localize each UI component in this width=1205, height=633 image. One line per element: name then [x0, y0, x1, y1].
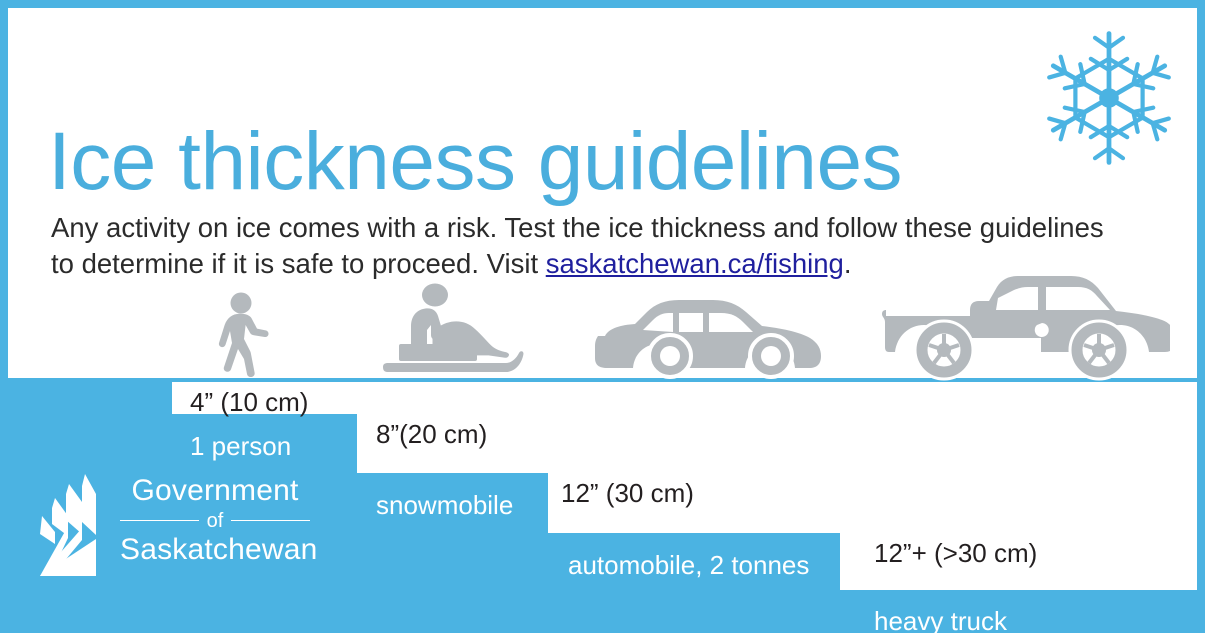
intro-text-part2: . — [844, 248, 852, 279]
walking-person-icon — [213, 292, 275, 382]
ice-thickness-infographic: Ice thickness guidelines Any activity on… — [0, 0, 1205, 633]
header-panel: Ice thickness guidelines Any activity on… — [8, 8, 1197, 378]
gov-logo-rule-right — [231, 520, 310, 522]
snowmobile-icon — [363, 282, 539, 382]
government-of-saskatchewan-logo: Government of Saskatchewan — [38, 472, 310, 594]
gov-logo-rule-left — [120, 520, 199, 522]
step-subject-2: snowmobile — [376, 490, 513, 521]
page-title: Ice thickness guidelines — [48, 121, 902, 203]
heavy-truck-icon — [880, 274, 1170, 382]
intro-paragraph: Any activity on ice comes with a risk. T… — [51, 210, 1116, 283]
saskatchewan-wheat-sheaf-icon — [38, 472, 104, 588]
gov-logo-wordmark: Government of Saskatchewan — [120, 474, 310, 566]
vehicle-icon-row — [8, 276, 1197, 384]
gov-logo-line-of: of — [207, 511, 224, 531]
automobile-icon — [581, 290, 821, 382]
step-thickness-3: 12” (30 cm) — [561, 478, 694, 509]
gov-logo-line-saskatchewan: Saskatchewan — [120, 533, 310, 567]
saskatchewan-fishing-link[interactable]: saskatchewan.ca/fishing — [546, 248, 844, 279]
step-subject-1: 1 person — [190, 431, 291, 462]
step-subject-4: heavy truck — [874, 606, 1007, 633]
gov-logo-of-row: of — [120, 511, 310, 531]
step-thickness-1: 4” (10 cm) — [190, 387, 308, 418]
step-subject-3: automobile, 2 tonnes — [568, 550, 809, 581]
step-white-1 — [172, 382, 1197, 414]
step-thickness-2: 8”(20 cm) — [376, 419, 487, 450]
snowflake-icon — [1039, 28, 1179, 168]
step-thickness-4: 12”+ (>30 cm) — [874, 538, 1037, 569]
gov-logo-line-government: Government — [120, 474, 310, 508]
